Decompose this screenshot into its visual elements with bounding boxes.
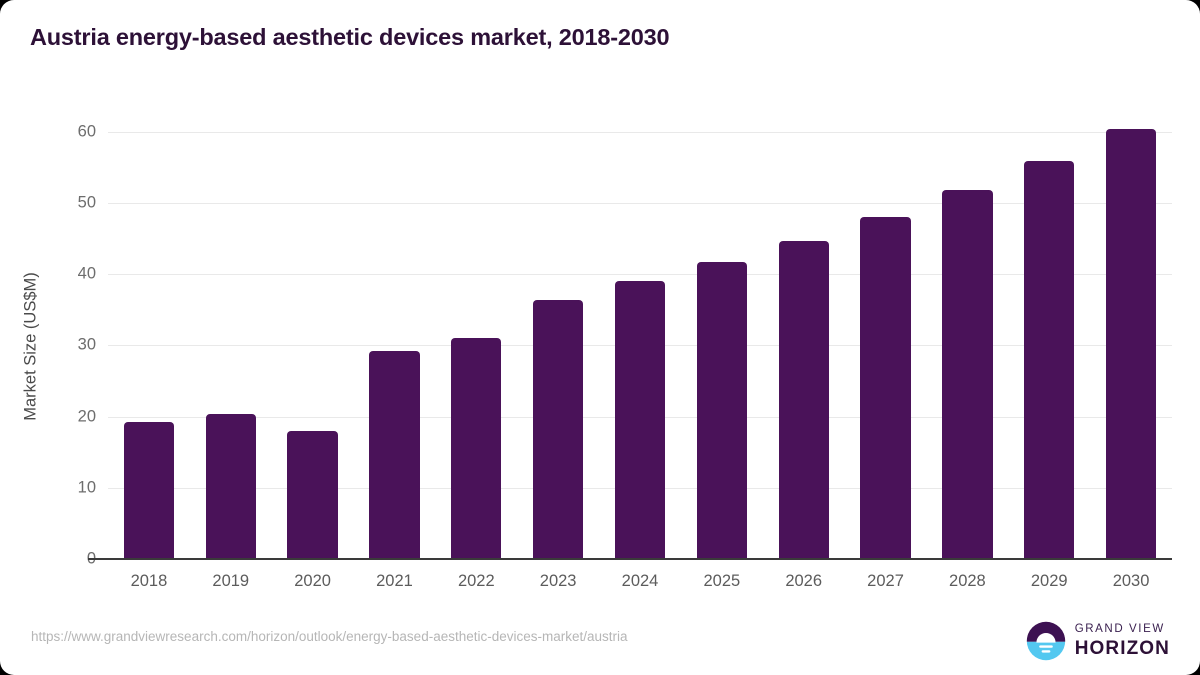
bar-2022[interactable] bbox=[451, 338, 501, 559]
logo-line-grand-view: GRAND VIEW bbox=[1075, 624, 1170, 636]
chart-card: Austria energy-based aesthetic devices m… bbox=[0, 0, 1200, 675]
logo-wordmark: GRAND VIEW HORIZON bbox=[1075, 624, 1170, 658]
y-axis-label: Market Size (US$M) bbox=[22, 147, 41, 547]
x-axis-tick-2020: 2020 bbox=[294, 572, 331, 591]
x-axis-tick-2026: 2026 bbox=[785, 572, 822, 591]
bar-2018[interactable] bbox=[124, 422, 174, 559]
x-axis-tick-2025: 2025 bbox=[703, 572, 740, 591]
y-axis-tick: 60 bbox=[26, 122, 96, 141]
x-axis-tick-2029: 2029 bbox=[1031, 572, 1068, 591]
bar-2028[interactable] bbox=[942, 190, 992, 559]
bar-2027[interactable] bbox=[860, 217, 910, 559]
plot-area bbox=[108, 114, 1172, 559]
source-url: https://www.grandviewresearch.com/horizo… bbox=[31, 629, 628, 644]
gridline bbox=[108, 274, 1172, 275]
bar-2025[interactable] bbox=[697, 262, 747, 559]
x-axis-tick-2028: 2028 bbox=[949, 572, 986, 591]
page-title: Austria energy-based aesthetic devices m… bbox=[30, 24, 669, 51]
logo-line-horizon: HORIZON bbox=[1075, 639, 1170, 658]
y-axis-tick-labels: 0102030405060 bbox=[0, 0, 96, 675]
x-axis-tick-2018: 2018 bbox=[131, 572, 168, 591]
bar-2020[interactable] bbox=[287, 431, 337, 559]
x-axis-tick-2030: 2030 bbox=[1113, 572, 1150, 591]
x-axis-line bbox=[88, 558, 1172, 560]
bar-2023[interactable] bbox=[533, 300, 583, 559]
x-axis-tick-2023: 2023 bbox=[540, 572, 577, 591]
grand-view-horizon-logo: GRAND VIEW HORIZON bbox=[1026, 620, 1170, 662]
bar-2026[interactable] bbox=[779, 241, 829, 559]
bar-2021[interactable] bbox=[369, 351, 419, 559]
x-axis-tick-2027: 2027 bbox=[867, 572, 904, 591]
bar-2029[interactable] bbox=[1024, 161, 1074, 559]
x-axis-tick-2019: 2019 bbox=[212, 572, 249, 591]
x-axis-tick-2022: 2022 bbox=[458, 572, 495, 591]
x-axis-tick-2024: 2024 bbox=[622, 572, 659, 591]
gridline bbox=[108, 132, 1172, 133]
bar-2019[interactable] bbox=[206, 414, 256, 559]
bar-2024[interactable] bbox=[615, 281, 665, 559]
x-axis-tick-2021: 2021 bbox=[376, 572, 413, 591]
gridline bbox=[108, 203, 1172, 204]
y-axis-tick: 0 bbox=[26, 550, 96, 569]
horizon-sun-icon bbox=[1026, 621, 1066, 661]
bar-2030[interactable] bbox=[1106, 129, 1156, 559]
